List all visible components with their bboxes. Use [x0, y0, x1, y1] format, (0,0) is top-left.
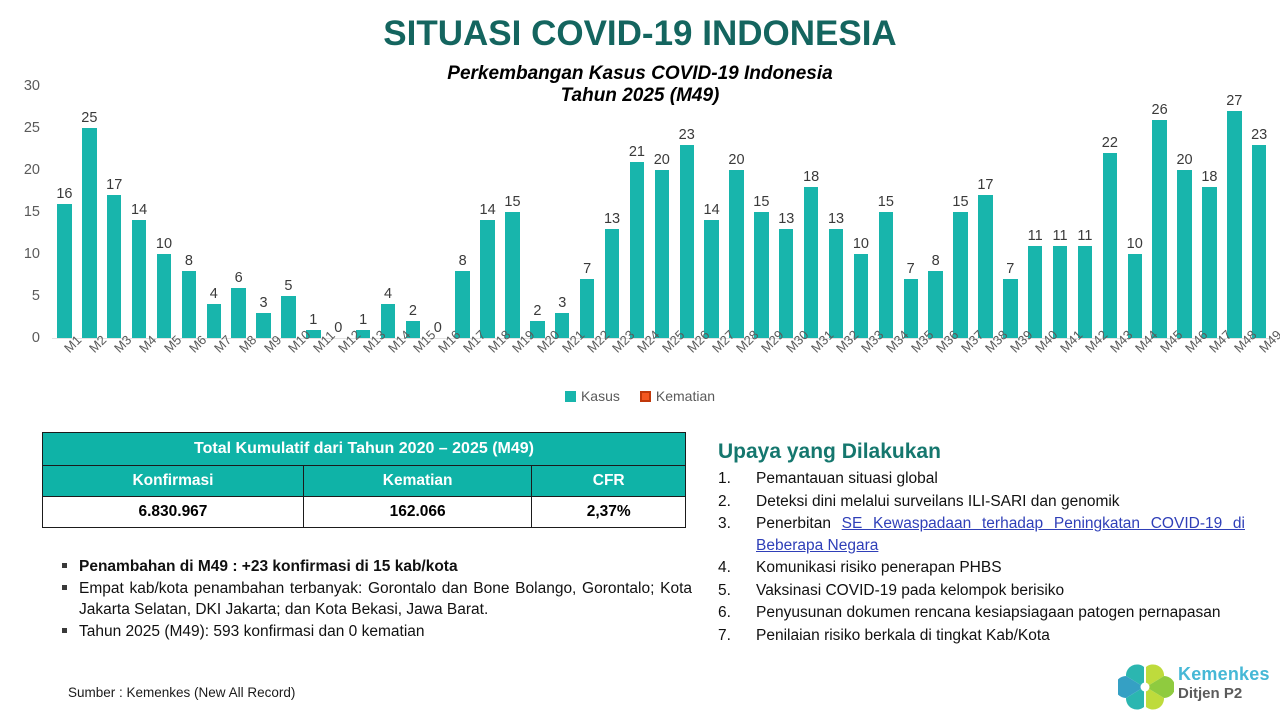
chart-bar[interactable] [1103, 153, 1117, 338]
chart-bar-value-label: 15 [753, 194, 769, 210]
upaya-numbered-list: 1.Pemantauan situasi global2.Deteksi din… [718, 468, 1245, 647]
chart-bar-slot: 20 [649, 86, 674, 338]
bullet-text: Tahun 2025 (M49): 593 konfirmasi dan 0 k… [79, 621, 692, 642]
chart-bar[interactable] [1028, 246, 1042, 338]
chart-bar-slot: 11 [1073, 86, 1098, 338]
chart-bar-slot: 3 [550, 86, 575, 338]
chart-bar-slot: 15 [749, 86, 774, 338]
bullet-square-icon [62, 556, 69, 577]
chart-bar-value-label: 14 [131, 202, 147, 218]
chart-bar-value-label: 7 [1006, 261, 1014, 277]
list-item: 2.Deteksi dini melalui surveilans ILI-SA… [718, 491, 1245, 513]
chart-bar-slot: 25 [77, 86, 102, 338]
chart-bar-value-label: 13 [778, 211, 794, 227]
chart-bar[interactable] [1202, 187, 1216, 338]
table-row: 6.830.967 162.066 2,37% [43, 497, 686, 528]
chart-bar[interactable] [281, 296, 295, 338]
chart-bar-slot: 8 [176, 86, 201, 338]
chart-bar-slot: 11 [1023, 86, 1048, 338]
chart-bar[interactable] [904, 279, 918, 338]
list-item: 5.Vaksinasi COVID-19 pada kelompok beris… [718, 580, 1245, 602]
chart-bar-slot: 3 [251, 86, 276, 338]
chart-bar-value-label: 18 [803, 169, 819, 185]
chart-bar[interactable] [231, 288, 245, 338]
chart-bar-value-label: 4 [210, 286, 218, 302]
chart-bar-value-label: 0 [334, 320, 342, 336]
chart-bar-value-label: 20 [1176, 152, 1192, 168]
chart-bar-slot: 0 [425, 86, 450, 338]
chart-bar-slot: 10 [1122, 86, 1147, 338]
chart-bar-slot: 8 [923, 86, 948, 338]
chart-bar-value-label: 10 [1127, 236, 1143, 252]
chart-bar-slot: 18 [799, 86, 824, 338]
list-item: Empat kab/kota penambahan terbanyak: Gor… [62, 578, 692, 620]
chart-bar[interactable] [1177, 170, 1191, 338]
y-axis-tick: 0 [32, 330, 40, 346]
chart-bar-value-label: 23 [679, 127, 695, 143]
page-title: SITUASI COVID-19 INDONESIA [0, 14, 1280, 54]
chart-bar-value-label: 3 [558, 295, 566, 311]
table-title: Total Kumulatif dari Tahun 2020 – 2025 (… [43, 433, 686, 466]
chart-bar-value-label: 14 [480, 202, 496, 218]
chart-bar[interactable] [1053, 246, 1067, 338]
chart-bar-slot: 1 [301, 86, 326, 338]
kemenkes-logo-mark-icon [1118, 662, 1174, 712]
chart-bar-slot: 13 [824, 86, 849, 338]
chart-bar[interactable] [1003, 279, 1017, 338]
y-axis-tick: 25 [24, 120, 40, 136]
list-item: Penambahan di M49 : +23 konfirmasi di 15… [62, 556, 692, 577]
chart-bar-value-label: 2 [409, 303, 417, 319]
list-item: 4.Komunikasi risiko penerapan PHBS [718, 557, 1245, 579]
table-value-kematian: 162.066 [303, 497, 531, 528]
chart-bar-value-label: 1 [359, 312, 367, 328]
chart-bar[interactable] [704, 220, 718, 338]
list-item-number: 3. [718, 513, 756, 556]
chart-bar[interactable] [953, 212, 967, 338]
chart-bar[interactable] [928, 271, 942, 338]
chart-bar-value-label: 15 [952, 194, 968, 210]
table-row: Konfirmasi Kematian CFR [43, 466, 686, 497]
chart-bar[interactable] [1252, 145, 1266, 338]
list-item-text: Vaksinasi COVID-19 pada kelompok berisik… [756, 580, 1245, 602]
legend-label-kematian: Kematian [656, 388, 715, 404]
chart-bar-value-label: 27 [1226, 93, 1242, 109]
chart-bar[interactable] [1128, 254, 1142, 338]
chart-bar-slot: 26 [1147, 86, 1172, 338]
list-item-text: Deteksi dini melalui surveilans ILI-SARI… [756, 491, 1245, 513]
chart-bar[interactable] [655, 170, 669, 338]
y-axis-tick: 5 [32, 288, 40, 304]
chart-bar-value-label: 11 [1028, 228, 1043, 244]
list-item-number: 5. [718, 580, 756, 602]
chart-bar[interactable] [157, 254, 171, 338]
chart-bar-value-label: 8 [459, 253, 467, 269]
chart-bar-value-label: 2 [533, 303, 541, 319]
chart-bar-slot: 15 [500, 86, 525, 338]
list-item-text: Penerbitan SE Kewaspadaan terhadap Penin… [756, 513, 1245, 556]
chart-bar-slot: 14 [699, 86, 724, 338]
chart-bar[interactable] [1152, 120, 1166, 338]
list-item-text: Penyusunan dokumen rencana kesiapsiagaan… [756, 602, 1245, 624]
chart-bar[interactable] [207, 304, 221, 338]
chart-bar-value-label: 17 [977, 177, 993, 193]
chart-bar-slot: 15 [948, 86, 973, 338]
chart-bar-value-label: 17 [106, 177, 122, 193]
list-item-number: 7. [718, 625, 756, 647]
chart-bar-slot: 2 [525, 86, 550, 338]
external-link[interactable]: SE Kewaspadaan terhadap Peningkatan COVI… [756, 515, 1245, 554]
chart-bar-value-label: 7 [907, 261, 915, 277]
chart-bar[interactable] [754, 212, 768, 338]
chart-bar[interactable] [107, 195, 121, 338]
chart-bar-value-label: 10 [853, 236, 869, 252]
chart-bar-value-label: 16 [56, 186, 72, 202]
chart-bar[interactable] [82, 128, 96, 338]
chart-bar[interactable] [804, 187, 818, 338]
chart-bar-value-label: 20 [728, 152, 744, 168]
legend-item-kasus: Kasus [565, 388, 620, 404]
chart-bar-value-label: 6 [235, 270, 243, 286]
summary-bullet-list: Penambahan di M49 : +23 konfirmasi di 15… [62, 556, 692, 643]
chart-bar-slot: 7 [898, 86, 923, 338]
chart-bar[interactable] [630, 162, 644, 338]
chart-bar[interactable] [132, 220, 146, 338]
chart-bar[interactable] [779, 229, 793, 338]
chart-bar-value-label: 3 [260, 295, 268, 311]
chart-bar-value-label: 13 [828, 211, 844, 227]
chart-bar-slot: 18 [1197, 86, 1222, 338]
table-row: Total Kumulatif dari Tahun 2020 – 2025 (… [43, 433, 686, 466]
legend-label-kasus: Kasus [581, 388, 620, 404]
table-header-kematian: Kematian [303, 466, 531, 497]
bullet-text: Penambahan di M49 : +23 konfirmasi di 15… [79, 556, 692, 577]
chart-bar-slot: 1 [351, 86, 376, 338]
covid-cases-bar-chart: 051015202530 162517141084635101420814152… [0, 78, 1280, 408]
list-item-text: Penilaian risiko berkala di tingkat Kab/… [756, 625, 1245, 647]
source-note: Sumber : Kemenkes (New All Record) [68, 685, 295, 700]
chart-bar-value-label: 8 [932, 253, 940, 269]
chart-bar-value-label: 23 [1251, 127, 1267, 143]
chart-bar-slot: 23 [674, 86, 699, 338]
y-axis-tick: 15 [24, 204, 40, 220]
chart-bar-value-label: 11 [1053, 228, 1068, 244]
chart-bar-value-label: 20 [654, 152, 670, 168]
list-item: 7.Penilaian risiko berkala di tingkat Ka… [718, 625, 1245, 647]
chart-bar[interactable] [729, 170, 743, 338]
chart-bar-slot: 23 [1247, 86, 1272, 338]
chart-bar-slot: 7 [575, 86, 600, 338]
chart-bar-slot: 6 [226, 86, 251, 338]
chart-bar-slot: 5 [276, 86, 301, 338]
chart-bar-slot: 13 [600, 86, 625, 338]
chart-bar-slot: 17 [973, 86, 998, 338]
chart-bar-slot: 14 [127, 86, 152, 338]
chart-bar-slot: 2 [400, 86, 425, 338]
y-axis-tick: 30 [24, 78, 40, 94]
chart-bar[interactable] [854, 254, 868, 338]
chart-bar-slot: 27 [1222, 86, 1247, 338]
chart-bar-value-label: 1 [309, 312, 317, 328]
chart-bar-value-label: 25 [81, 110, 97, 126]
bullet-square-icon [62, 621, 69, 642]
chart-bar[interactable] [879, 212, 893, 338]
chart-bar-slot: 4 [376, 86, 401, 338]
chart-bar-slot: 10 [152, 86, 177, 338]
table-header-cfr: CFR [532, 466, 686, 497]
chart-bar-value-label: 5 [284, 278, 292, 294]
chart-bar[interactable] [829, 229, 843, 338]
chart-bar[interactable] [680, 145, 694, 338]
chart-bar-value-label: 10 [156, 236, 172, 252]
list-item: 1.Pemantauan situasi global [718, 468, 1245, 490]
list-item: Tahun 2025 (M49): 593 konfirmasi dan 0 k… [62, 621, 692, 642]
chart-bar-slot: 14 [475, 86, 500, 338]
chart-bar[interactable] [605, 229, 619, 338]
chart-bar-value-label: 8 [185, 253, 193, 269]
chart-bar-slot: 15 [873, 86, 898, 338]
chart-bar[interactable] [505, 212, 519, 338]
bullet-text: Empat kab/kota penambahan terbanyak: Gor… [79, 578, 692, 620]
chart-bar[interactable] [1227, 111, 1241, 338]
list-item-text: Pemantauan situasi global [756, 468, 1245, 490]
chart-bar-slot: 10 [849, 86, 874, 338]
chart-bar-value-label: 26 [1152, 102, 1168, 118]
chart-y-axis: 051015202530 [0, 86, 46, 338]
kemenkes-logo: Kemenkes Ditjen P2 [1118, 662, 1273, 714]
chart-bar-value-label: 15 [504, 194, 520, 210]
legend-item-kematian: Kematian [640, 388, 715, 404]
y-axis-tick: 10 [24, 246, 40, 262]
chart-bar-slot: 16 [52, 86, 77, 338]
table-header-konfirmasi: Konfirmasi [43, 466, 304, 497]
chart-bar-slot: 17 [102, 86, 127, 338]
chart-bar[interactable] [1078, 246, 1092, 338]
chart-bar-slot: 7 [998, 86, 1023, 338]
chart-bar-slot: 8 [450, 86, 475, 338]
logo-name: Kemenkes [1178, 664, 1270, 685]
chart-bar-value-label: 22 [1102, 135, 1118, 151]
chart-bar-value-label: 7 [583, 261, 591, 277]
table-value-cfr: 2,37% [532, 497, 686, 528]
logo-unit: Ditjen P2 [1178, 685, 1242, 702]
chart-bar[interactable] [580, 279, 594, 338]
chart-bar[interactable] [455, 271, 469, 338]
list-item-number: 2. [718, 491, 756, 513]
list-item-text: Komunikasi risiko penerapan PHBS [756, 557, 1245, 579]
list-item-number: 4. [718, 557, 756, 579]
chart-bar-slot: 11 [1048, 86, 1073, 338]
chart-bar[interactable] [978, 195, 992, 338]
chart-bar-slot: 0 [326, 86, 351, 338]
cumulative-total-table: Total Kumulatif dari Tahun 2020 – 2025 (… [42, 432, 686, 528]
table-value-konfirmasi: 6.830.967 [43, 497, 304, 528]
chart-bar[interactable] [256, 313, 270, 338]
chart-bar-value-label: 18 [1201, 169, 1217, 185]
chart-bars: 1625171410846351014208141523713212023142… [52, 86, 1272, 338]
legend-swatch-kasus-icon [565, 391, 576, 402]
chart-bar-value-label: 11 [1077, 228, 1092, 244]
list-item-number: 6. [718, 602, 756, 624]
chart-bar-value-label: 21 [629, 144, 645, 160]
chart-bar-slot: 22 [1097, 86, 1122, 338]
legend-swatch-kematian-icon [640, 391, 651, 402]
list-item-number: 1. [718, 468, 756, 490]
chart-bar-value-label: 14 [704, 202, 720, 218]
chart-bar[interactable] [57, 204, 71, 338]
chart-bar[interactable] [182, 271, 196, 338]
list-item: 3.Penerbitan SE Kewaspadaan terhadap Pen… [718, 513, 1245, 556]
upaya-section-title: Upaya yang Dilakukan [718, 440, 941, 464]
y-axis-tick: 20 [24, 162, 40, 178]
bullet-square-icon [62, 578, 69, 620]
chart-bar-slot: 20 [724, 86, 749, 338]
chart-bar[interactable] [480, 220, 494, 338]
list-item: 6.Penyusunan dokumen rencana kesiapsiaga… [718, 602, 1245, 624]
chart-legend: Kasus Kematian [0, 388, 1280, 404]
chart-bar-slot: 13 [774, 86, 799, 338]
chart-bar-value-label: 15 [878, 194, 894, 210]
chart-bar-value-label: 4 [384, 286, 392, 302]
chart-bar-value-label: 13 [604, 211, 620, 227]
chart-bar-slot: 21 [624, 86, 649, 338]
chart-bar-slot: 20 [1172, 86, 1197, 338]
chart-bar-slot: 4 [201, 86, 226, 338]
